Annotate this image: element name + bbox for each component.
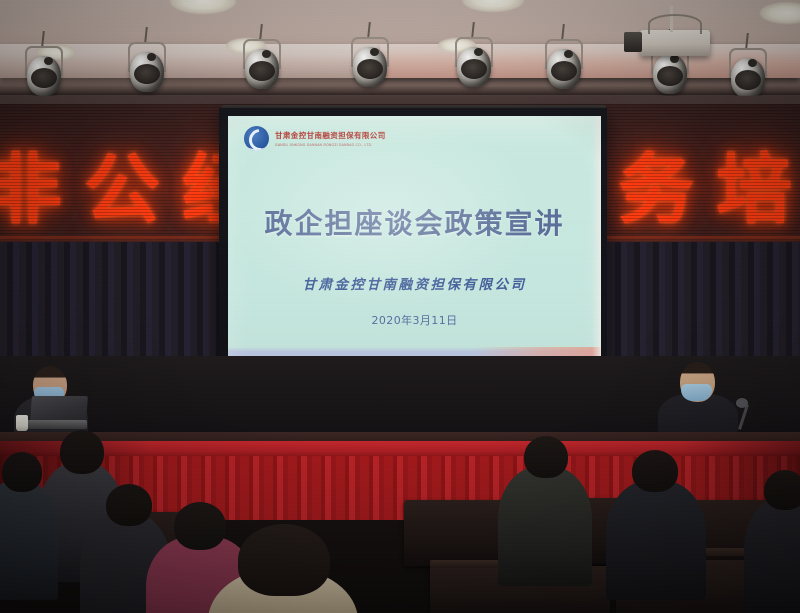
stage-spotlight-icon xyxy=(348,33,392,91)
stage-spotlight-icon xyxy=(22,42,66,100)
stage-spotlight-icon xyxy=(125,38,169,96)
ceiling-projector-icon xyxy=(640,30,710,56)
paper-cup-icon xyxy=(16,415,28,431)
meeting-photo-scene: 非公经 业务培 甘肃金控甘南融资担保有限公司 GANSU JINKONG GAN… xyxy=(0,0,800,613)
laptop-base xyxy=(27,420,87,429)
stage-spotlight-icon xyxy=(240,35,284,93)
stage-spotlight-icon xyxy=(726,44,770,102)
laptop-icon xyxy=(30,396,88,422)
stage-spotlight-icon xyxy=(452,33,496,91)
face-mask-icon xyxy=(681,384,712,401)
stage-spotlight-icon xyxy=(542,35,586,93)
microphone-head-icon xyxy=(736,398,748,408)
